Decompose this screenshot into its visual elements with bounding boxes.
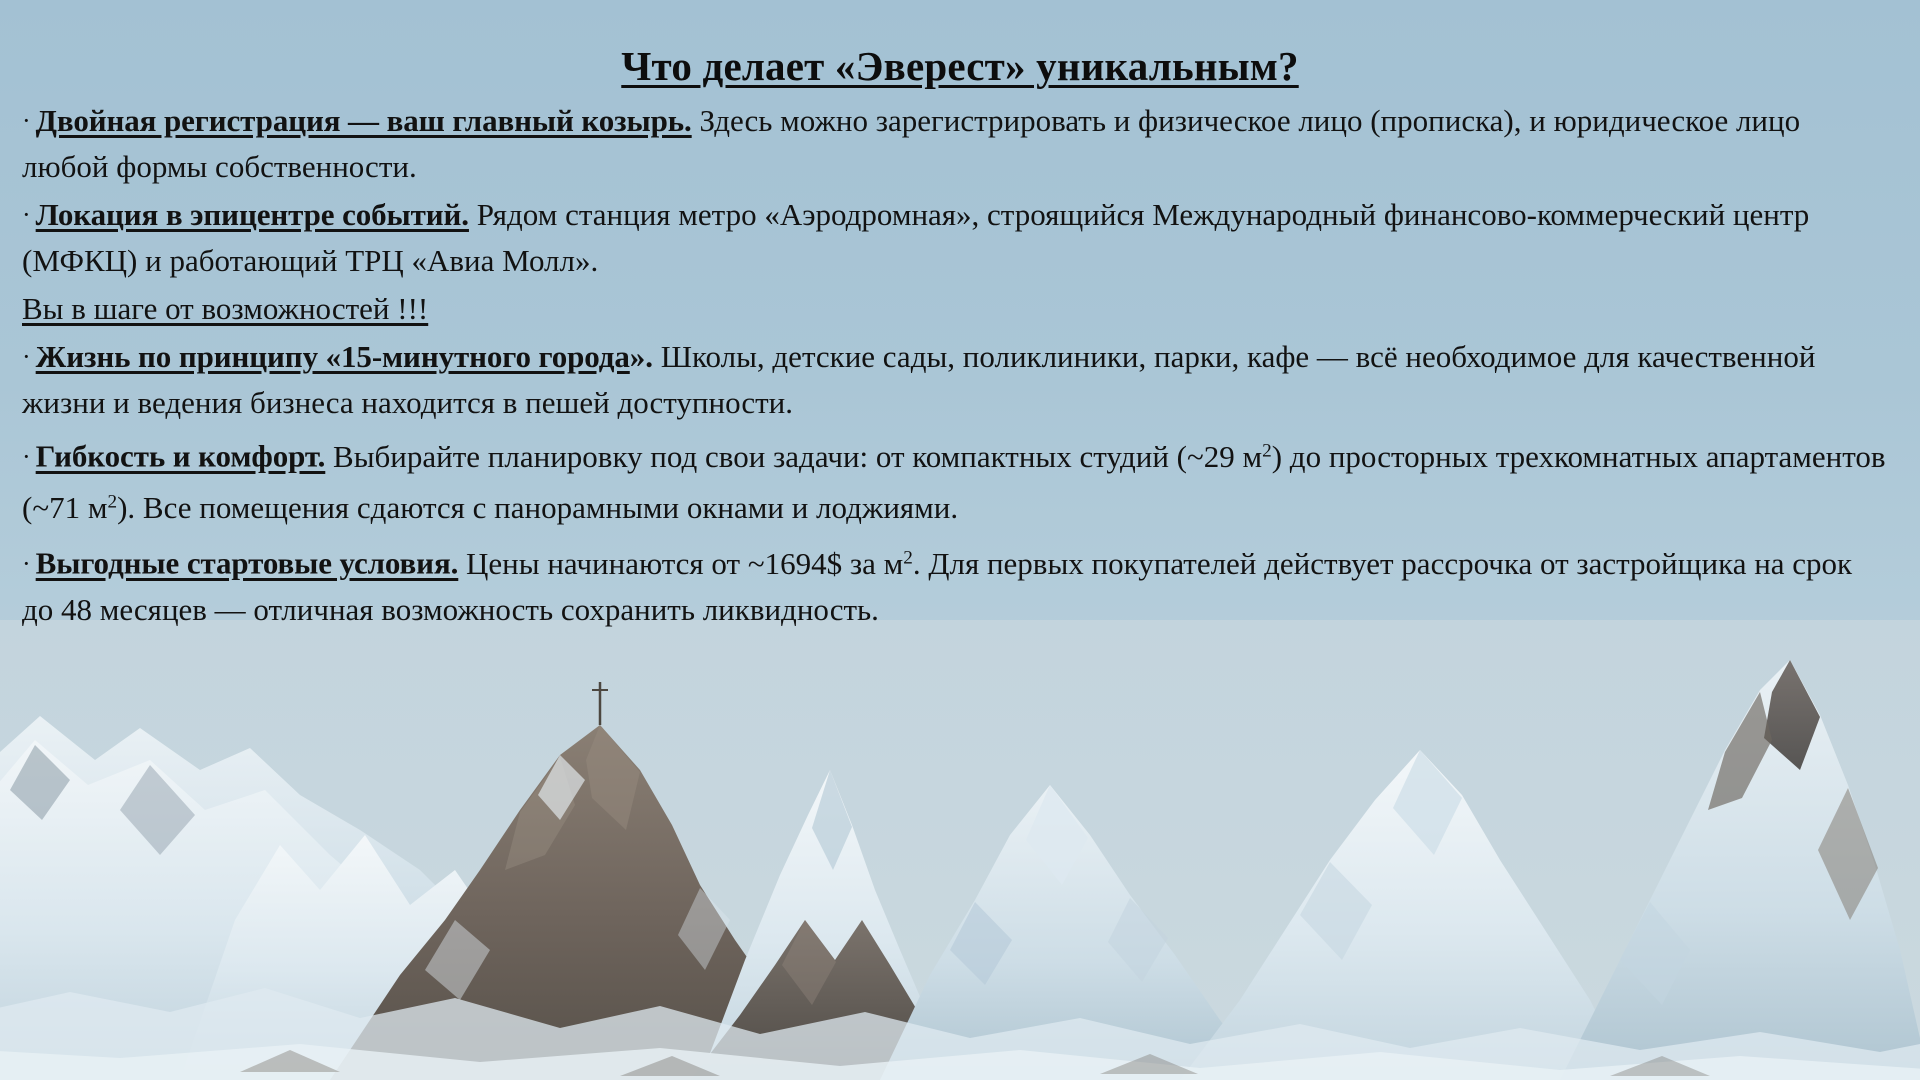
mountain-photo <box>0 620 1920 1080</box>
bullet-marker: · <box>22 342 31 371</box>
callout-line: Вы в шаге от возможностей !!! <box>22 286 1886 332</box>
bullet-starting-conditions: ·Выгодные стартовые условия. Цены начина… <box>22 535 1886 633</box>
bullet-location: ·Локация в эпицентре событий. Рядом стан… <box>22 192 1886 284</box>
bullet-fifteen-minute-city: ·Жизнь по принципу «15-минутного города»… <box>22 334 1886 426</box>
bullet-lead-dual-registration: Двойная регистрация — ваш главный козырь… <box>36 103 692 138</box>
bullet-lead-starting-conditions: Выгодные стартовые условия. <box>36 546 459 581</box>
bullet-marker: · <box>22 549 31 578</box>
bullet-lead-location: Локация в эпицентре событий. <box>36 197 469 232</box>
bullet-marker: · <box>22 200 31 229</box>
bullet-lead-tail-fifteen-minute-city: ». <box>630 339 653 374</box>
bullet-dual-registration: ·Двойная регистрация — ваш главный козыр… <box>22 98 1886 190</box>
slide-content: Что делает «Эверест» уникальным? ·Двойна… <box>0 0 1920 635</box>
bullet-list: ·Двойная регистрация — ваш главный козыр… <box>0 98 1920 633</box>
bullet-flexibility-comfort: ·Гибкость и комфорт. Выбирайте планировк… <box>22 428 1886 531</box>
bullet-marker: · <box>22 106 31 135</box>
bullet-marker: · <box>22 442 31 471</box>
bullet-lead-fifteen-minute-city: Жизнь по принципу «15-минутного города <box>36 339 630 374</box>
bullet-lead-flexibility-comfort: Гибкость и комфорт. <box>36 439 326 474</box>
presentation-slide: Что делает «Эверест» уникальным? ·Двойна… <box>0 0 1920 1080</box>
page-title: Что делает «Эверест» уникальным? <box>0 42 1920 90</box>
callout-text: Вы в шаге от возможностей !!! <box>22 291 428 326</box>
